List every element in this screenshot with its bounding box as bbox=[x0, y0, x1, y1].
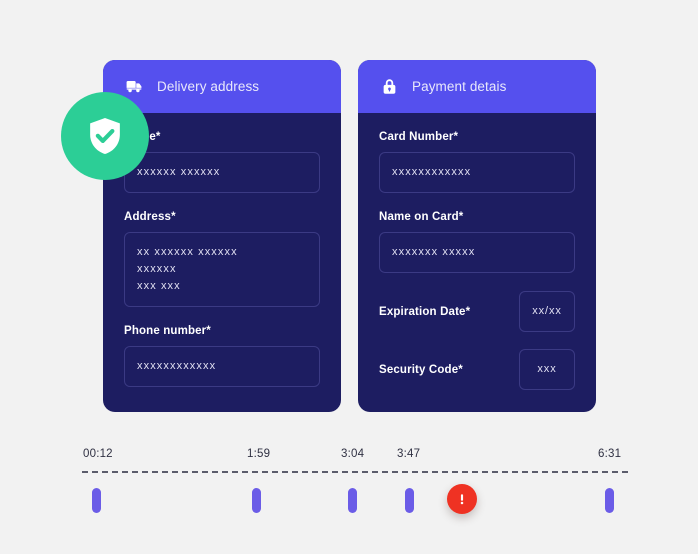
timeline-marker-1[interactable] bbox=[92, 488, 101, 513]
card-number-field-input[interactable]: xxxxxxxxxxxx bbox=[379, 152, 575, 193]
timeline-label-2: 1:59 bbox=[247, 448, 270, 460]
timeline-error-marker[interactable] bbox=[447, 484, 477, 514]
payment-details-card-header: Payment detais bbox=[358, 60, 596, 113]
phone-number-field-input[interactable]: xxxxxxxxxxxx bbox=[124, 346, 320, 387]
field-group-phone-number: Phone number* xxxxxxxxxxxx bbox=[124, 325, 320, 387]
address-field-label: Address* bbox=[124, 211, 320, 223]
shield-check-icon bbox=[83, 114, 127, 158]
delivery-address-card-header: Delivery address bbox=[103, 60, 341, 113]
timeline-marker-3[interactable] bbox=[348, 488, 357, 513]
expiration-date-field-label: Expiration Date* bbox=[379, 306, 470, 318]
timeline-axis-dashed-line bbox=[82, 471, 628, 473]
timeline-label-3: 3:04 bbox=[341, 448, 364, 460]
payment-details-card: Payment detais Card Number* xxxxxxxxxxxx… bbox=[358, 60, 596, 412]
timeline-label-1: 00:12 bbox=[83, 448, 113, 460]
field-group-name-on-card: Name on Card* xxxxxxx xxxxx bbox=[379, 211, 575, 273]
name-field-label: Name* bbox=[124, 131, 320, 143]
alert-exclamation-icon bbox=[454, 491, 470, 507]
field-group-name: Name* xxxxxx xxxxxx bbox=[124, 131, 320, 193]
payment-details-card-title: Payment detais bbox=[412, 79, 506, 94]
expiration-date-field-input[interactable]: xx/xx bbox=[519, 291, 575, 332]
session-timeline: 00:12 1:59 3:04 3:47 6:31 bbox=[0, 440, 698, 525]
delivery-address-card-title: Delivery address bbox=[157, 79, 259, 94]
timeline-marker-5[interactable] bbox=[605, 488, 614, 513]
security-code-field-label: Security Code* bbox=[379, 364, 463, 376]
name-on-card-field-input[interactable]: xxxxxxx xxxxx bbox=[379, 232, 575, 273]
timeline-marker-2[interactable] bbox=[252, 488, 261, 513]
name-field-input[interactable]: xxxxxx xxxxxx bbox=[124, 152, 320, 193]
payment-details-card-body: Card Number* xxxxxxxxxxxx Name on Card* … bbox=[358, 113, 596, 390]
field-group-security-code: Security Code* xxx bbox=[379, 349, 575, 390]
timeline-label-5: 6:31 bbox=[598, 448, 621, 460]
field-group-card-number: Card Number* xxxxxxxxxxxx bbox=[379, 131, 575, 193]
delivery-truck-icon bbox=[125, 77, 144, 96]
field-group-address: Address* xx xxxxxx xxxxxx xxxxxx xxx xxx bbox=[124, 211, 320, 307]
padlock-icon bbox=[380, 77, 399, 96]
field-group-expiration-date: Expiration Date* xx/xx bbox=[379, 291, 575, 332]
card-number-field-label: Card Number* bbox=[379, 131, 575, 143]
security-code-field-input[interactable]: xxx bbox=[519, 349, 575, 390]
timeline-label-4: 3:47 bbox=[397, 448, 420, 460]
address-field-input[interactable]: xx xxxxxx xxxxxx xxxxxx xxx xxx bbox=[124, 232, 320, 307]
secure-badge bbox=[61, 92, 149, 180]
name-on-card-field-label: Name on Card* bbox=[379, 211, 575, 223]
timeline-marker-4[interactable] bbox=[405, 488, 414, 513]
screenshot-canvas: Delivery address Name* xxxxxx xxxxxx Add… bbox=[0, 0, 698, 554]
phone-number-field-label: Phone number* bbox=[124, 325, 320, 337]
